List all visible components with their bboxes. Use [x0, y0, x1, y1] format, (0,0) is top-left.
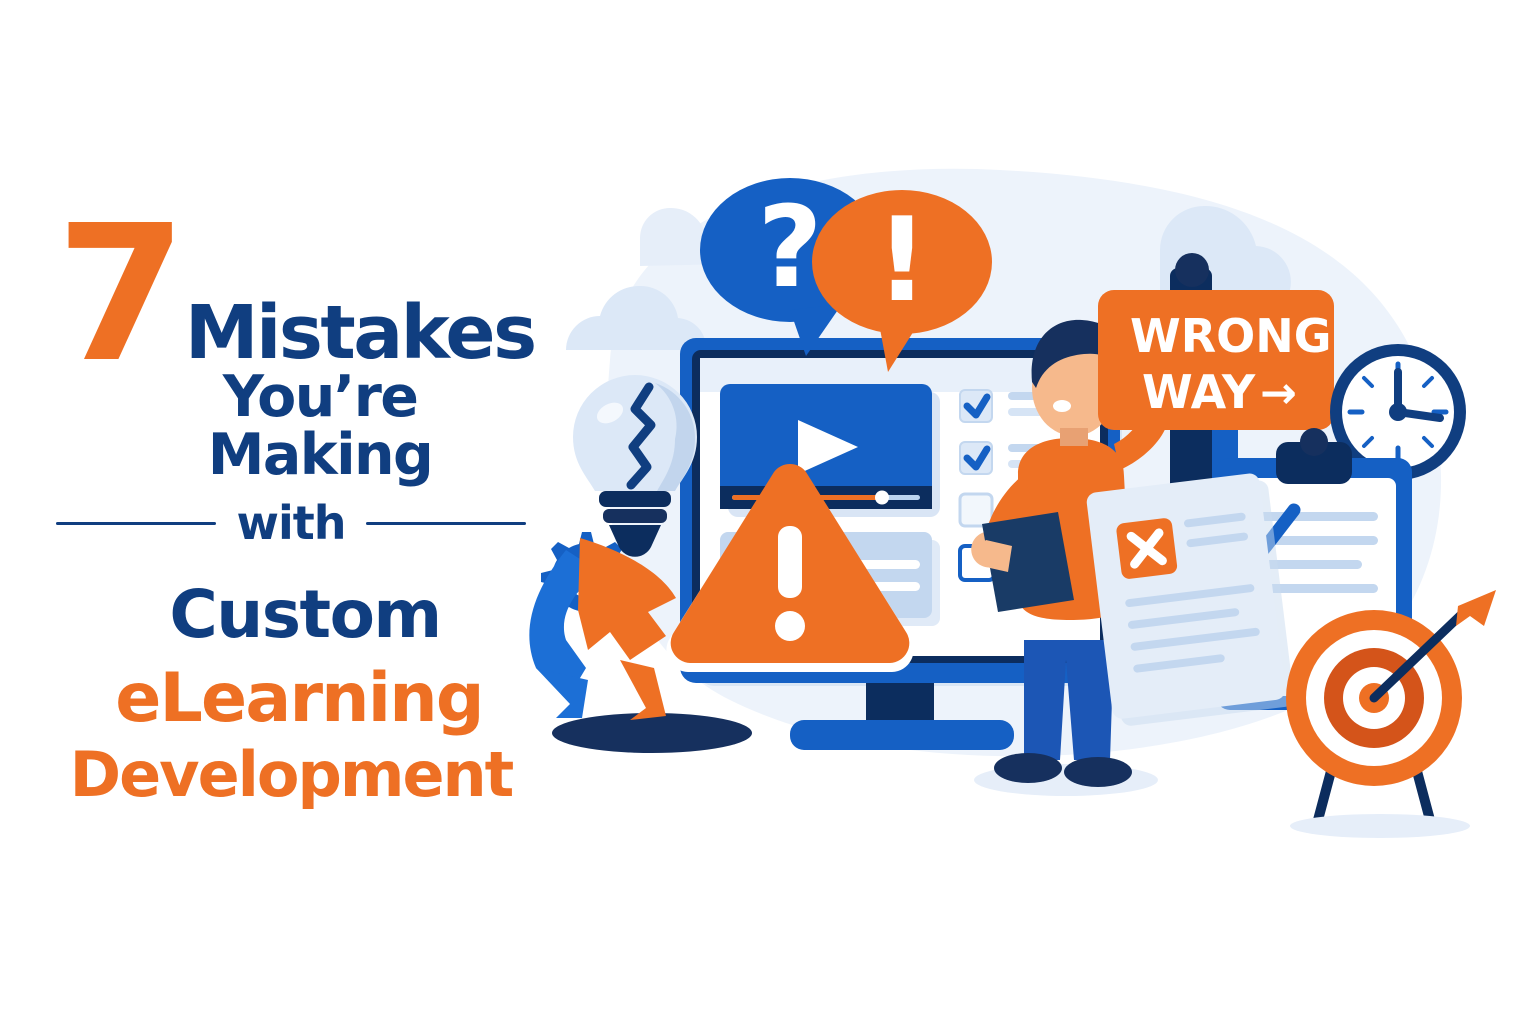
person-shoe-left: [994, 753, 1062, 783]
sign-label-line2: WAY: [1142, 365, 1256, 419]
title-number: 7: [56, 218, 179, 372]
warning-exclamation-dot: [775, 611, 805, 641]
divider-rule-left: [56, 522, 216, 525]
figure-shadow: [552, 713, 752, 753]
sign-label-line1: WRONG: [1130, 309, 1332, 363]
checkbox-3: [960, 494, 992, 526]
arrow-fletching: [1456, 590, 1496, 626]
title-line-one: 7 Mistakes: [56, 212, 526, 366]
title-word-custom: Custom: [56, 576, 526, 653]
title-connector-row: with: [56, 496, 526, 550]
title-word-with: with: [236, 496, 345, 550]
monitor-base: [790, 720, 1014, 750]
video-player[interactable]: [720, 384, 940, 517]
title-word-development: Development: [56, 738, 526, 811]
hero-illustration: ? !: [470, 120, 1530, 860]
warning-exclamation-bar: [778, 526, 802, 598]
target-shadow: [1290, 814, 1470, 838]
title-word-elearning: eLearning: [56, 659, 526, 738]
document-error: [1086, 471, 1295, 727]
title-block: 7 Mistakes You’re Making with Custom eLe…: [56, 212, 526, 702]
progress-knob: [875, 491, 889, 505]
poster-canvas: 7 Mistakes You’re Making with Custom eLe…: [0, 0, 1536, 1024]
question-mark-glyph: ?: [758, 183, 823, 313]
exclamation-mark-glyph: !: [876, 193, 929, 328]
person-shoe-right: [1064, 757, 1132, 787]
sign-arrow-glyph: →: [1260, 368, 1297, 419]
person-mouth: [1053, 400, 1071, 412]
monitor-neck: [866, 683, 934, 725]
